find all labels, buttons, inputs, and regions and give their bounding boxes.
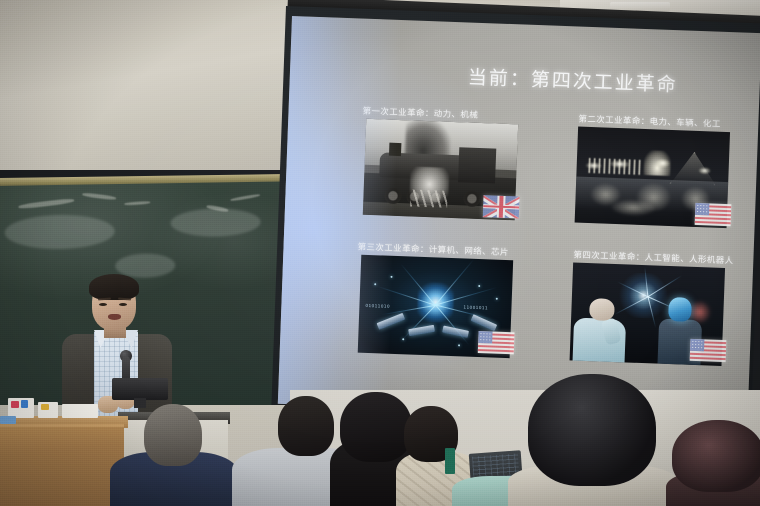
audience-head-maroon (672, 420, 760, 492)
podium-item-cyan (0, 416, 16, 424)
presenter-eye-left (99, 303, 107, 306)
presenter-mouth (108, 314, 121, 320)
projection-screen: 当前：第四次工业革命 第一次工业革命：动力、机械 第二次工业革命：电力、车辆、化… (278, 16, 760, 421)
us-flag-third (478, 331, 515, 354)
audience-head-center (528, 374, 656, 486)
uk-flag (483, 195, 520, 218)
podium-papers-3 (62, 404, 98, 418)
us-flag-fourth (690, 339, 727, 362)
presenter-hair (89, 274, 139, 300)
lecture-hall-photo: 当前：第四次工业革命 第一次工业革命：动力、机械 第二次工业革命：电力、车辆、化… (0, 0, 760, 506)
podium-monitor-stand (134, 398, 146, 408)
podium-item-red (11, 401, 19, 408)
left-wall (0, 0, 300, 170)
audience-head-navy (144, 404, 202, 466)
us-flag-second (695, 203, 732, 226)
slide-title: 当前：第四次工业革命 (467, 62, 678, 97)
presenter-eye-right (119, 303, 127, 306)
laptop-screen-tab (445, 448, 455, 474)
podium-item-blue (21, 400, 28, 408)
audience-head-gray-hoodie (278, 396, 334, 456)
podium-monitor (112, 378, 168, 400)
audience-head-long-hair (340, 392, 412, 462)
lectern (0, 424, 124, 506)
podium-item-yellow (41, 404, 49, 410)
